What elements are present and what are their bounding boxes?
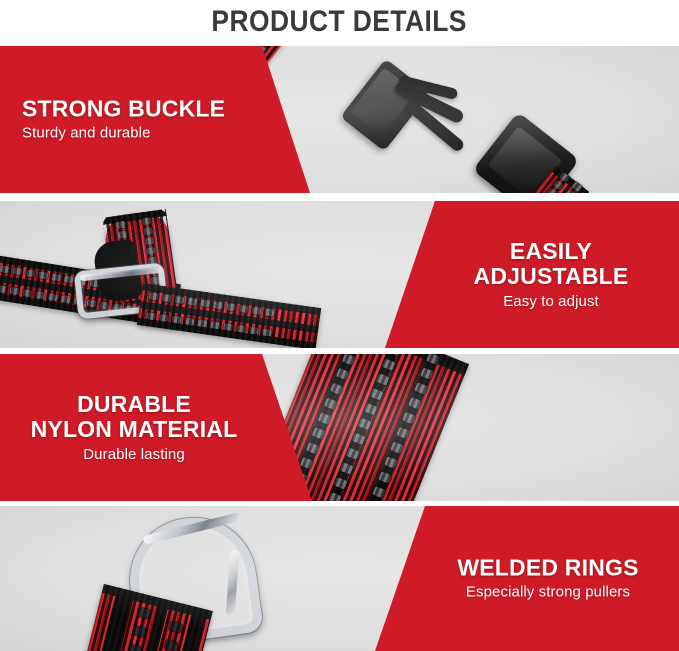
panel-headline: STRONG BUCKLE	[22, 96, 272, 122]
feature-panel-strong-buckle: STRONG BUCKLE Sturdy and durable	[0, 46, 679, 193]
panel-subline: Durable lasting	[8, 447, 260, 464]
feature-panel-easily-adjustable: EASILY ADJUSTABLE Easy to adjust	[0, 201, 679, 348]
callout-wedge-durable-nylon-material: DURABLE NYLON MATERIAL Durable lasting	[0, 354, 312, 501]
page-title-bar: PRODUCT DETAILS	[0, 0, 679, 44]
panel-headline: EASILY ADJUSTABLE	[429, 238, 673, 290]
panel-headline: WELDED RINGS	[423, 555, 673, 581]
panel-subline: Sturdy and durable	[22, 126, 272, 143]
panel-headline: DURABLE NYLON MATERIAL	[8, 391, 260, 443]
product-details-infographic: PRODUCT DETAILS	[0, 0, 679, 651]
panel-subline: Easy to adjust	[429, 294, 673, 311]
callout-wedge-strong-buckle: STRONG BUCKLE Sturdy and durable	[0, 46, 310, 193]
feature-panel-welded-rings: WELDED RINGS Especially strong pullers	[0, 506, 679, 651]
panel-subline: Especially strong pullers	[423, 585, 673, 602]
page-title: PRODUCT DETAILS	[212, 5, 467, 39]
feature-panel-durable-nylon-material: DURABLE NYLON MATERIAL Durable lasting	[0, 354, 679, 501]
